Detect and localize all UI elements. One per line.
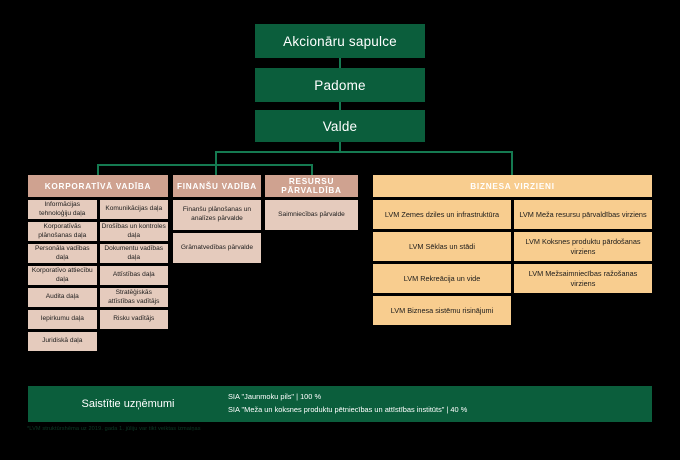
- group-corporate-management: KORPORATĪVĀ VADĪBA Informācijas tehnoloģ…: [28, 175, 168, 351]
- corporate-column-b: Komunikācijas daļa Drošības un kontroles…: [100, 200, 169, 351]
- unit-card[interactable]: Juridiskā daļa: [28, 332, 97, 351]
- connector-business-drop: [511, 151, 513, 175]
- unit-card[interactable]: Drošības un kontroles daļa: [100, 222, 169, 241]
- group-finance-management: FINANŠU VADĪBA Finanšu plānošanas un ana…: [173, 175, 261, 263]
- unit-card[interactable]: Saimniecības pārvalde: [265, 200, 358, 230]
- unit-card[interactable]: Attīstības daļa: [100, 266, 169, 285]
- unit-card[interactable]: Iepirkumu daļa: [28, 310, 97, 329]
- group-header-resources[interactable]: RESURSU PĀRVALDĪBA: [265, 175, 358, 197]
- unit-card[interactable]: Audita daļa: [28, 288, 97, 307]
- group-header-finance[interactable]: FINANŠU VADĪBA: [173, 175, 261, 197]
- unit-card[interactable]: LVM Rekreācija un vide: [373, 264, 511, 293]
- unit-card[interactable]: LVM Zemes dziles un infrastruktūra: [373, 200, 511, 229]
- group-header-business[interactable]: BIZNESA VIRZIENI: [373, 175, 652, 197]
- connector-corporate-drop: [97, 164, 99, 175]
- group-header-label: FINANŠU VADĪBA: [177, 182, 257, 191]
- connector-left-busbar: [97, 164, 312, 166]
- related-companies-list: SIA "Jaunmoku pils" | 100 % SIA "Meža un…: [228, 391, 467, 416]
- connector-finance-drop: [215, 164, 217, 175]
- node-council[interactable]: Padome: [255, 68, 425, 102]
- business-column-b: LVM Meža resursu pārvaldības virziens LV…: [514, 200, 652, 325]
- connector-shareholders-council: [339, 58, 341, 68]
- group-header-label: BIZNESA VIRZIENI: [470, 182, 554, 191]
- corporate-column-a: Informācijas tehnoloģiju daļa Korporatīv…: [28, 200, 97, 351]
- unit-card[interactable]: Personāla vadības daļa: [28, 244, 97, 263]
- connector-resources-drop: [311, 164, 313, 175]
- group-resource-management: RESURSU PĀRVALDĪBA Saimniecības pārvalde: [265, 175, 358, 230]
- unit-card[interactable]: Komunikācijas daļa: [100, 200, 169, 219]
- unit-card[interactable]: Informācijas tehnoloģiju daļa: [28, 200, 97, 219]
- unit-card[interactable]: LVM Sēklas un stādi: [373, 232, 511, 261]
- group-header-label: RESURSU PĀRVALDĪBA: [265, 177, 358, 195]
- unit-card[interactable]: LVM Biznesa sistēmu risinājumi: [373, 296, 511, 325]
- node-board[interactable]: Valde: [255, 110, 425, 142]
- unit-card[interactable]: Dokumentu vadības daļa: [100, 244, 169, 263]
- related-company-entry: SIA "Jaunmoku pils" | 100 %: [228, 391, 467, 404]
- finance-column: Finanšu plānošanas un analīzes pārvalde …: [173, 200, 261, 263]
- unit-card[interactable]: LVM Meža resursu pārvaldības virziens: [514, 200, 652, 229]
- group-header-label: KORPORATĪVĀ VADĪBA: [45, 182, 151, 191]
- node-label: Akcionāru sapulce: [283, 34, 397, 49]
- node-label: Valde: [323, 119, 358, 134]
- related-company-entry: SIA "Meža un koksnes produktu pētniecība…: [228, 404, 467, 417]
- org-chart: Akcionāru sapulce Padome Valde KORPORATĪ…: [0, 0, 680, 460]
- business-column-a: LVM Zemes dziles un infrastruktūra LVM S…: [373, 200, 511, 325]
- connector-board-busbar: [215, 151, 512, 153]
- related-companies-title: Saistītie uzņēmumi: [28, 398, 228, 410]
- node-label: Padome: [314, 78, 365, 93]
- unit-card[interactable]: LVM Koksnes produktu pārdošanas virziens: [514, 232, 652, 261]
- group-business-directions: BIZNESA VIRZIENI LVM Zemes dziles un inf…: [373, 175, 652, 325]
- node-shareholders-meeting[interactable]: Akcionāru sapulce: [255, 24, 425, 58]
- unit-card[interactable]: Korporatīvo attiecību daļa: [28, 266, 97, 285]
- related-companies-panel: Saistītie uzņēmumi SIA "Jaunmoku pils" |…: [28, 386, 652, 422]
- unit-card[interactable]: Finanšu plānošanas un analīzes pārvalde: [173, 200, 261, 230]
- footnote-text: *LVM struktūrshēma uz 2019. gada 1. jūli…: [27, 426, 201, 432]
- unit-card[interactable]: Grāmatvedības pārvalde: [173, 233, 261, 263]
- connector-council-board: [339, 102, 341, 110]
- resources-column: Saimniecības pārvalde: [265, 200, 358, 230]
- unit-card[interactable]: LVM Mežsaimniecības ražošanas virziens: [514, 264, 652, 293]
- unit-card[interactable]: Korporatīvās plānošanas daļa: [28, 222, 97, 241]
- unit-card[interactable]: Risku vadītājs: [100, 310, 169, 329]
- group-header-corporate[interactable]: KORPORATĪVĀ VADĪBA: [28, 175, 168, 197]
- unit-card[interactable]: Stratēģiskās attīstības vadītājs: [100, 288, 169, 307]
